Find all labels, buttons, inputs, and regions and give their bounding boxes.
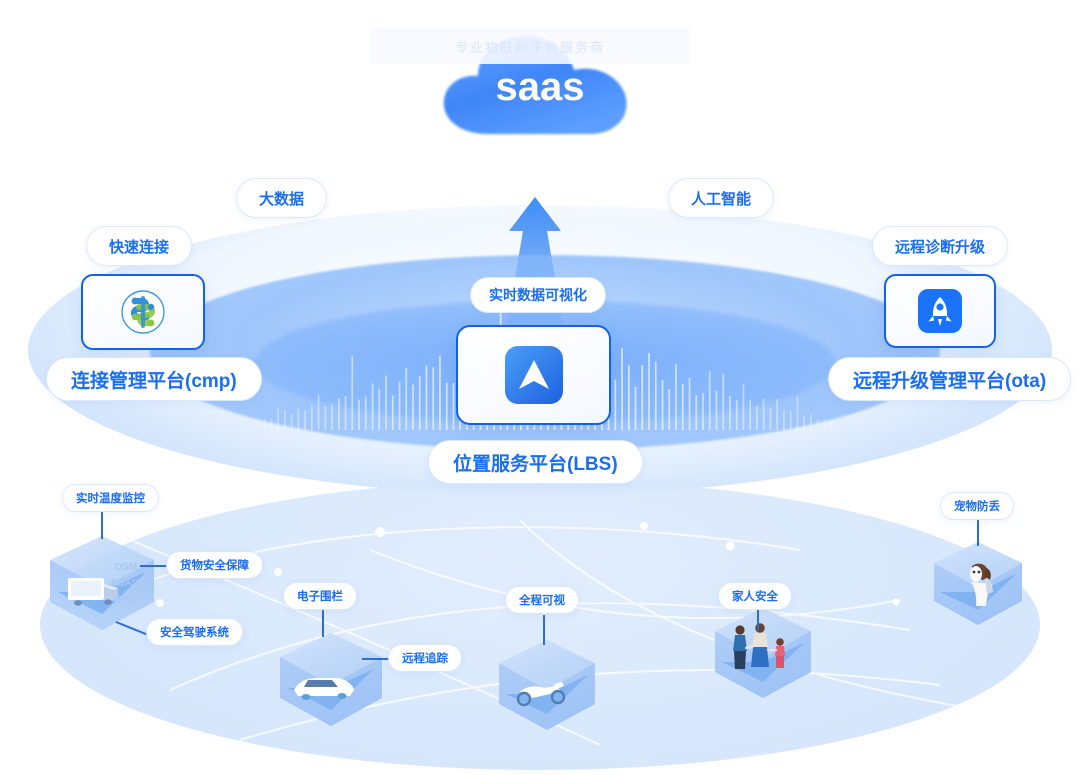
connector-car-tracking bbox=[362, 658, 390, 660]
chip-ai[interactable]: 人工智能 bbox=[668, 178, 774, 218]
connector-scooter-visibility bbox=[543, 615, 545, 645]
chip-safe-driving-system[interactable]: 安全驾驶系统 bbox=[146, 618, 243, 646]
platform-lbs-label[interactable]: 位置服务平台(LBS) bbox=[428, 440, 643, 484]
platform-cmp-card[interactable] bbox=[81, 274, 205, 350]
hex-tag-dsm: DSM bbox=[115, 562, 137, 573]
platform-ota-label[interactable]: 远程升级管理平台(ota) bbox=[828, 357, 1071, 401]
connector-pet-antiloss bbox=[977, 520, 979, 546]
chip-big-data[interactable]: 大数据 bbox=[236, 178, 327, 218]
navigation-arrow-icon bbox=[503, 344, 565, 406]
connector-car-geofence bbox=[322, 609, 324, 637]
chip-remote-tracking[interactable]: 远程追踪 bbox=[388, 644, 462, 672]
node-scooter-hexagon bbox=[492, 636, 602, 740]
connector-truck-temp bbox=[101, 511, 103, 539]
watermark-text: 专业物联网平台服务商 bbox=[370, 28, 690, 64]
node-family-hexagon bbox=[708, 604, 818, 708]
chip-pet-anti-loss[interactable]: 宠物防丢 bbox=[940, 492, 1014, 520]
connector-truck-cargo bbox=[140, 565, 168, 567]
connection-s-logo-icon bbox=[119, 288, 167, 336]
chip-fast-connect[interactable]: 快速连接 bbox=[86, 226, 192, 266]
chip-family-safety[interactable]: 家人安全 bbox=[718, 582, 792, 610]
chip-label: 快速连接 bbox=[109, 236, 169, 257]
platform-cmp-label[interactable]: 连接管理平台(cmp) bbox=[46, 357, 262, 401]
node-pet-hexagon bbox=[928, 538, 1028, 634]
chip-label: 大数据 bbox=[259, 188, 304, 209]
chip-realtime-temperature-monitoring[interactable]: 实时温度监控 bbox=[62, 484, 159, 512]
chip-cargo-security[interactable]: 货物安全保障 bbox=[166, 551, 263, 579]
rocket-icon bbox=[917, 288, 963, 334]
cloud-label: saas bbox=[496, 65, 585, 109]
hex-tag-gps: GPS bbox=[114, 594, 135, 605]
chip-label: 人工智能 bbox=[691, 188, 751, 209]
chip-geofence[interactable]: 电子围栏 bbox=[283, 582, 357, 610]
chip-label: 实时数据可视化 bbox=[489, 285, 587, 305]
platform-lbs-card[interactable] bbox=[456, 325, 611, 425]
hex-tag-adas: ADAS bbox=[110, 578, 139, 589]
node-car-hexagon bbox=[272, 628, 390, 736]
chip-full-visibility[interactable]: 全程可视 bbox=[505, 586, 579, 614]
node-truck-hexagon: DSM ADAS GPS bbox=[42, 530, 162, 640]
chip-remote-diagnosis-upgrade[interactable]: 远程诊断升级 bbox=[872, 226, 1008, 266]
iot-platform-architecture-diagram: saas 专业物联网平台服务商 大数据 人工智能 快速连接 远程诊断升级 实时数… bbox=[0, 0, 1080, 775]
chip-realtime-data-visualization[interactable]: 实时数据可视化 bbox=[470, 277, 606, 313]
chip-label: 远程诊断升级 bbox=[895, 236, 985, 257]
platform-ota-card[interactable] bbox=[884, 274, 996, 348]
